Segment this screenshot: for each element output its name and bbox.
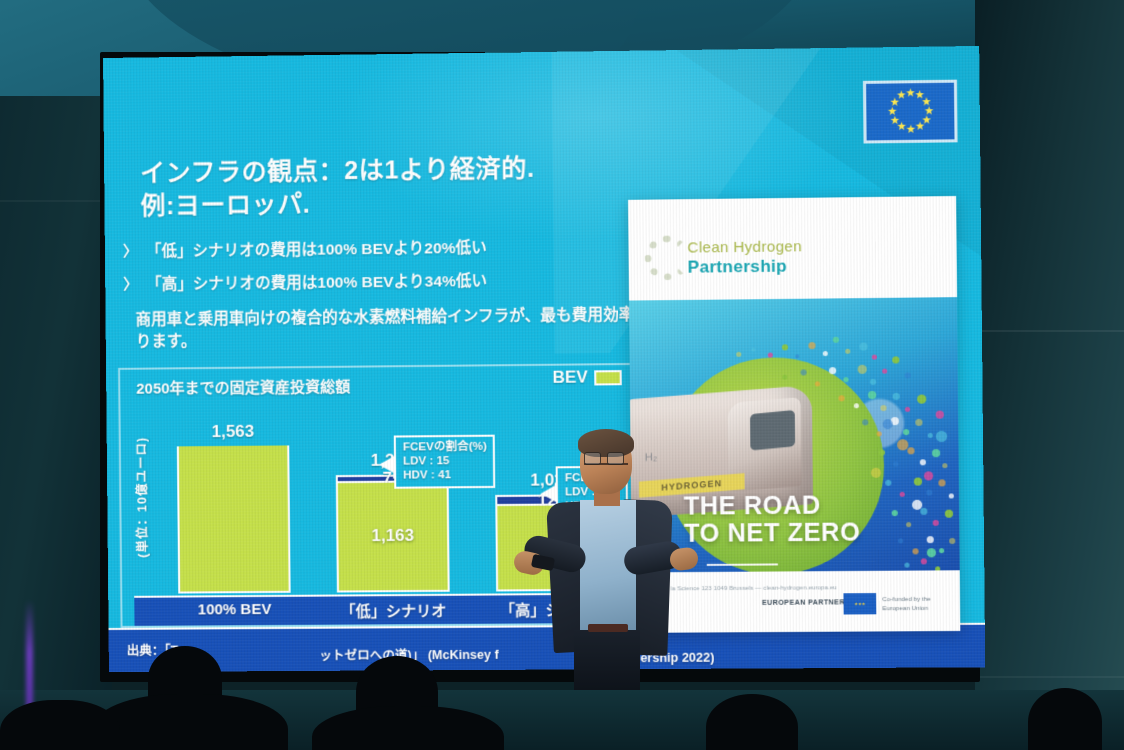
slide-lead-text: 商用車と乗用車向けの複合的な水素燃料補給インフラが、最も費用効率が高くなります。 — [135, 304, 700, 355]
decorative-dot — [854, 403, 859, 408]
room-right-wall — [975, 0, 1124, 750]
bullet-text: 「低」シナリオの費用は100% BEVより20%低い — [146, 239, 487, 263]
callout-row-ldv: LDV : 15 — [403, 454, 487, 469]
report-hero-artwork: H₂ HYDROGEN THE ROAD TO NET ZERO Study o… — [629, 297, 960, 572]
presenter-person — [528, 432, 678, 682]
bar-segment-bev: 1,163 — [336, 482, 450, 593]
x-tick-label-1: 「低」シナリオ — [337, 600, 450, 622]
photo-scene: ★★★★★★★★★★★★ インフラの観点：2は1より経済的. 例:ヨーロッパ. … — [0, 0, 1124, 750]
eu-flag-icon: ★★★★★★★★★★★★ — [863, 80, 958, 144]
decorative-dot — [920, 459, 926, 465]
bar-segment-bev — [177, 445, 291, 593]
decorative-dot — [800, 369, 806, 375]
eu-star-icon: ★ — [915, 123, 924, 132]
bullet-text: 「高」シナリオの費用は100% BEVより34%低い — [146, 272, 487, 296]
chart-title: 2050年までの固定資産投資総額 — [136, 376, 350, 399]
decorative-dot — [782, 344, 788, 350]
legs — [574, 630, 640, 690]
decorative-dot — [912, 548, 918, 554]
bar-total-label: 1,563 — [177, 421, 290, 442]
decorative-dot — [907, 447, 914, 454]
x-tick-label-0: 100% BEV — [178, 601, 291, 619]
eu-flag-small-icon: ★★★ — [843, 593, 876, 614]
callout-arrow-icon — [379, 456, 395, 474]
legend-label-bev: BEV — [552, 367, 588, 387]
decorative-dot — [879, 449, 885, 455]
callout-low-scenario: FCEVの割合(%) LDV : 15 HDV : 41 — [394, 435, 495, 489]
decorative-dot — [883, 419, 893, 429]
room-left-wall — [0, 96, 112, 750]
glasses-lens-left — [584, 452, 601, 465]
decorative-dot — [938, 479, 945, 486]
decorative-dot — [768, 353, 773, 358]
glasses-lens-right — [607, 452, 624, 465]
wall-seam-right — [975, 330, 1124, 332]
callout-row-hdv: HDV : 41 — [403, 468, 487, 483]
decorative-dot — [905, 407, 910, 412]
chevron-right-icon: 〉 — [123, 276, 138, 296]
decorative-dot — [872, 355, 877, 360]
bar-group: 1,238751,163 — [336, 475, 450, 593]
wall-seam-left — [0, 200, 112, 202]
belt — [588, 624, 628, 632]
report-logo-line2: Partnership — [687, 257, 787, 278]
decorative-dot — [882, 369, 887, 374]
audience-shoulders — [92, 694, 288, 750]
decorative-dot — [782, 375, 787, 380]
decorative-dot — [905, 372, 911, 378]
report-headline: THE ROAD TO NET ZERO — [631, 491, 960, 547]
decorative-dot — [893, 462, 898, 467]
report-footer: White de la Science 123 1049 Brussels — … — [632, 572, 961, 633]
eu-flag-small-stars: ★★★ — [843, 593, 876, 614]
decorative-dot — [892, 356, 899, 363]
eu-star-icon: ★ — [890, 116, 899, 125]
decorative-dot — [917, 395, 926, 404]
report-headline-line1: THE ROAD — [684, 491, 960, 520]
decorative-dot — [932, 449, 940, 457]
report-headline-line2: TO NET ZERO — [684, 518, 960, 547]
chart-y-axis-label: (単位：10億ユーロ) — [130, 392, 151, 602]
decorative-dot — [845, 349, 850, 354]
decorative-dot — [870, 379, 876, 385]
report-footer-cofunded: Co-funded by the European Union — [882, 595, 960, 614]
decorative-dot — [935, 566, 940, 571]
decorative-dot — [897, 439, 908, 450]
bar-segment-label-bev: 1,163 — [371, 526, 414, 546]
decorative-dot — [893, 393, 900, 400]
decorative-dot — [880, 405, 886, 411]
clean-hydrogen-logo-icon — [645, 235, 690, 280]
decorative-dot — [823, 351, 828, 356]
decorative-dot — [927, 548, 936, 557]
legend-swatch-bev — [594, 370, 622, 385]
decorative-dot — [936, 431, 947, 442]
decorative-dot — [915, 419, 922, 426]
decorative-dot — [885, 480, 891, 486]
decorative-dot — [928, 433, 933, 438]
audience-shoulders — [0, 700, 120, 750]
legend-item-bev: BEV — [552, 367, 621, 388]
decorative-dot — [736, 352, 741, 357]
bar-group: 1,563 — [177, 445, 291, 593]
eu-star-icon: ★ — [905, 89, 914, 98]
wall-seam-right-2 — [975, 676, 1124, 678]
decorative-dot — [868, 391, 876, 399]
decorative-dot — [921, 558, 927, 564]
eu-star-icon: ★ — [887, 107, 896, 116]
eu-star-icon: ★ — [906, 125, 915, 134]
chevron-right-icon: 〉 — [123, 243, 138, 263]
decorative-dot — [838, 395, 844, 401]
decorative-dot — [843, 377, 848, 382]
decorative-dot — [877, 431, 882, 436]
callout-title: FCEVの割合(%) — [403, 440, 487, 455]
eu-star-icon: ★ — [896, 91, 905, 100]
decorative-dot — [815, 381, 820, 386]
decorative-dot — [914, 478, 922, 486]
decorative-dot — [808, 342, 815, 349]
audience-head — [1028, 688, 1102, 750]
decorative-dot — [858, 365, 867, 374]
decorative-dot — [871, 468, 881, 478]
decorative-dot — [862, 419, 868, 425]
report-logo-line1: Clean Hydrogen — [687, 238, 802, 256]
decorative-dot — [924, 471, 933, 480]
decorative-dot — [903, 429, 909, 435]
decorative-dot — [939, 548, 944, 553]
decorative-dot — [859, 343, 867, 351]
decorative-dot — [751, 348, 755, 352]
eu-flag-stars: ★★★★★★★★★★★★ — [866, 83, 954, 141]
decorative-dot — [833, 337, 839, 343]
decorative-dot — [904, 563, 909, 568]
decorative-dot — [942, 463, 947, 468]
decorative-dot — [795, 354, 799, 358]
decorative-dot — [829, 367, 836, 374]
decorative-dot — [936, 411, 944, 419]
